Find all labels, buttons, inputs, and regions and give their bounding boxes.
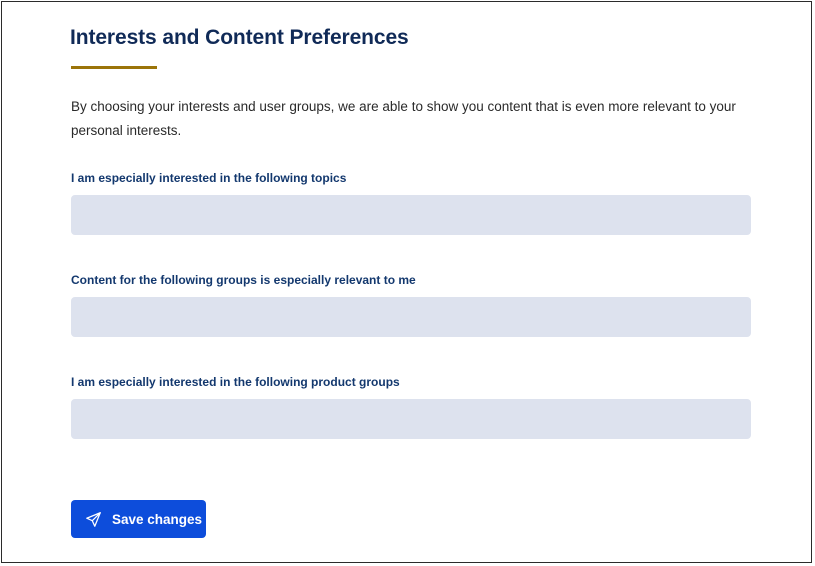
field-topics-input[interactable] <box>71 195 751 235</box>
field-product-groups-label: I am especially interested in the follow… <box>71 374 751 390</box>
field-groups: Content for the following groups is espe… <box>71 272 751 337</box>
page-title: Interests and Content Preferences <box>70 24 409 51</box>
send-icon <box>85 511 102 528</box>
field-groups-label: Content for the following groups is espe… <box>71 272 751 288</box>
title-underline-rule <box>71 66 157 69</box>
field-groups-input[interactable] <box>71 297 751 337</box>
field-topics: I am especially interested in the follow… <box>71 170 751 235</box>
save-changes-button[interactable]: Save changes <box>71 500 206 538</box>
intro-paragraph: By choosing your interests and user grou… <box>71 95 751 143</box>
field-topics-label: I am especially interested in the follow… <box>71 170 751 186</box>
field-product-groups: I am especially interested in the follow… <box>71 374 751 439</box>
preferences-form: Interests and Content Preferences By cho… <box>70 2 770 562</box>
field-product-groups-input[interactable] <box>71 399 751 439</box>
save-changes-label: Save changes <box>112 512 202 527</box>
page-frame: Interests and Content Preferences By cho… <box>1 1 812 563</box>
